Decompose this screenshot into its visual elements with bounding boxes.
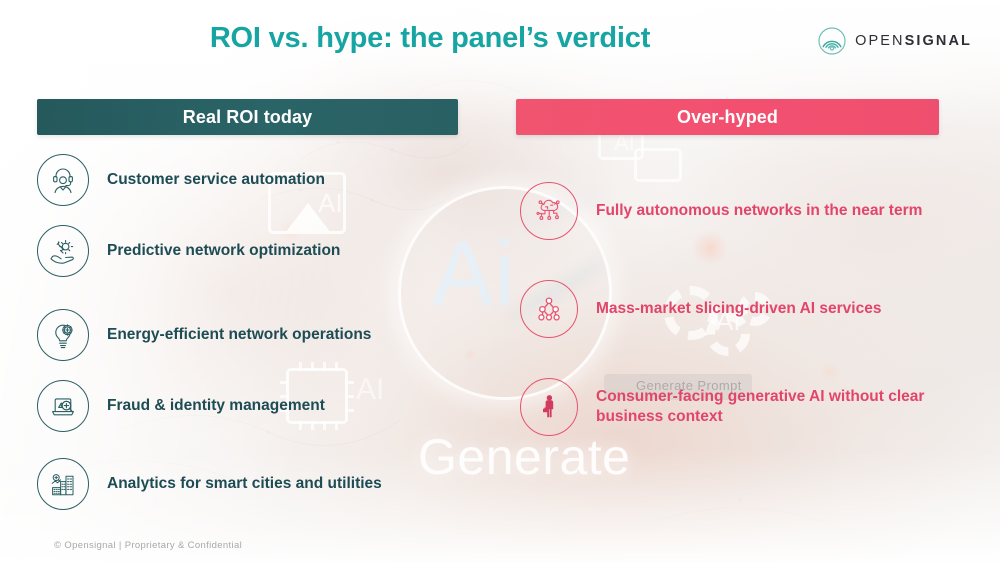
footer-copyright: © Opensignal | Proprietary & Confidentia… bbox=[54, 540, 242, 551]
list-item-label: Analytics for smart cities and utilities bbox=[107, 474, 382, 494]
list-item[interactable]: Predictive network optimization bbox=[37, 225, 340, 277]
brand-logo: OPENSIGNAL bbox=[818, 27, 972, 55]
logo-word-open: OPEN bbox=[855, 33, 905, 49]
logo-wordmark: OPENSIGNAL bbox=[855, 33, 972, 49]
logo-word-signal: SIGNAL bbox=[905, 33, 972, 49]
list-item-label: Predictive network optimization bbox=[107, 241, 340, 261]
list-item-label: Mass-market slicing-driven AI services bbox=[596, 299, 881, 319]
list-item[interactable]: Analytics for smart cities and utilities bbox=[37, 458, 382, 510]
headset-agent-icon bbox=[37, 154, 89, 206]
list-item[interactable]: Consumer-facing generative AI without cl… bbox=[520, 378, 926, 436]
list-item-label: Energy-efficient network operations bbox=[107, 325, 371, 345]
list-item-label: Fully autonomous networks in the near te… bbox=[596, 201, 922, 221]
slide-canvas: Ai Generate AI AI AI AI Generate Prompt … bbox=[0, 0, 1000, 563]
list-item[interactable]: Energy-efficient network operations bbox=[37, 309, 371, 361]
list-item[interactable]: Fraud & identity management bbox=[37, 380, 325, 432]
person-briefcase-icon bbox=[520, 378, 578, 436]
laptop-magnifier-alert-icon bbox=[37, 380, 89, 432]
list-item[interactable]: Mass-market slicing-driven AI services bbox=[520, 280, 881, 338]
smart-city-analytics-icon bbox=[37, 458, 89, 510]
cloud-network-nodes-icon bbox=[520, 182, 578, 240]
node-tree-topology-icon bbox=[520, 280, 578, 338]
list-item-label: Fraud & identity management bbox=[107, 396, 325, 416]
list-item-label: Customer service automation bbox=[107, 170, 325, 190]
list-item[interactable]: Customer service automation bbox=[37, 154, 325, 206]
page-title: ROI vs. hype: the panel’s verdict bbox=[0, 22, 860, 55]
column-header-over-hyped: Over-hyped bbox=[516, 99, 939, 135]
hand-holding-wrench-gear-icon bbox=[37, 225, 89, 277]
list-item[interactable]: Fully autonomous networks in the near te… bbox=[520, 182, 922, 240]
opensignal-signal-icon bbox=[818, 27, 846, 55]
lightbulb-gear-icon bbox=[37, 309, 89, 361]
list-item-label: Consumer-facing generative AI without cl… bbox=[596, 387, 926, 428]
column-header-real-roi: Real ROI today bbox=[37, 99, 458, 135]
